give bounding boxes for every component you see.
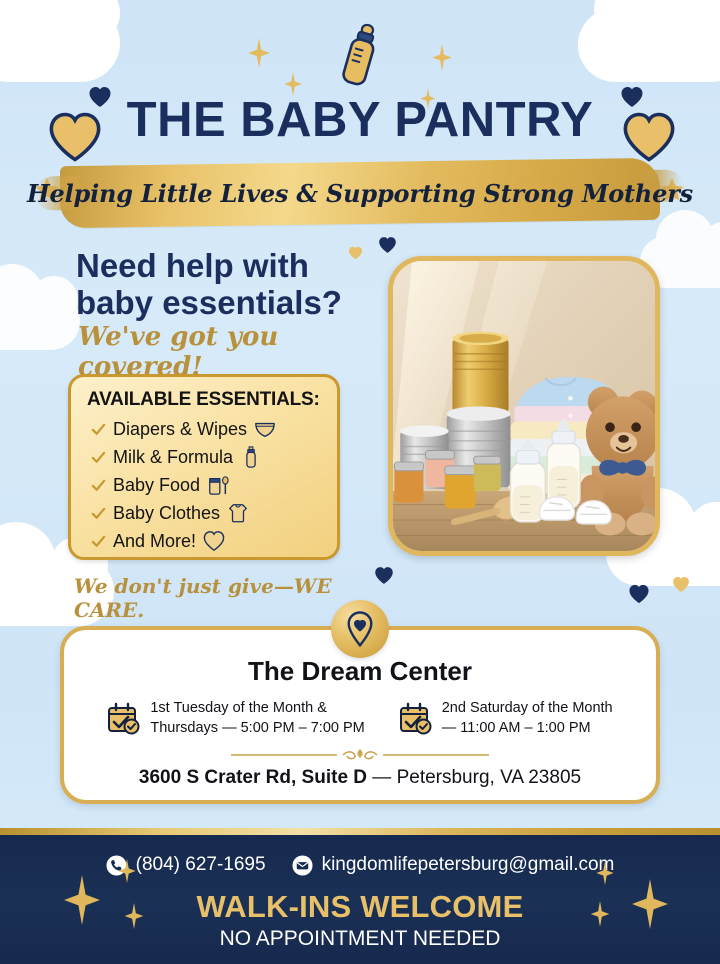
baby-supplies-photo <box>388 256 660 556</box>
baby-food-jar-icon <box>207 474 229 496</box>
check-icon <box>91 506 106 521</box>
headline-line-2: baby essentials? <box>76 285 376 322</box>
headline-line-1: Need help with <box>76 248 376 285</box>
no-appointment-text: NO APPOINTMENT NEEDED <box>0 927 720 951</box>
list-item: Baby Clothes <box>87 499 323 527</box>
ornamental-divider <box>225 747 495 763</box>
heart-icon-navy-lower-right <box>628 584 650 604</box>
footer: (804) 627-1695 kingdomlifepetersburg@gma… <box>0 835 720 964</box>
list-item: And More! <box>87 527 323 555</box>
list-item: Baby Food <box>87 471 323 499</box>
flyer-root: THE BABY PANTRY Helping Little Lives & S… <box>0 0 720 964</box>
location-pin-badge <box>331 600 389 658</box>
hours-line-2: — 11:00 AM – 1:00 PM <box>442 719 613 739</box>
walkins-headline: WALK-INS WELCOME <box>0 889 720 925</box>
hours-text: 2nd Saturday of the Month — 11:00 AM – 1… <box>442 699 613 738</box>
hours-block-weekday: 1st Tuesday of the Month & Thursdays — 5… <box>107 699 364 738</box>
essential-label: Baby Food <box>113 475 200 496</box>
sparkle-icon-top-center-left <box>248 38 270 68</box>
hours-line-1: 2nd Saturday of the Month <box>442 699 613 719</box>
list-item: Diapers & Wipes <box>87 415 323 443</box>
envelope-icon <box>292 855 313 876</box>
sparkle-icon-footer-left <box>62 875 102 925</box>
banner-tagline-text: Helping Little Lives & Supporting Strong… <box>60 162 660 224</box>
baby-bottle-icon <box>329 22 391 90</box>
sparkle-icon-top-right <box>432 44 452 71</box>
hours-block-weekend: 2nd Saturday of the Month — 11:00 AM – 1… <box>399 699 613 738</box>
check-icon <box>91 422 106 437</box>
essential-label: Baby Clothes <box>113 503 220 524</box>
sparkle-icon-footer-left-small-2 <box>124 903 144 929</box>
headline-subscript: We've got you covered! <box>78 322 388 382</box>
cloud-mid-left <box>0 292 80 350</box>
heart-icon-gold-lower-right <box>672 576 690 593</box>
phone-number: (804) 627-1695 <box>136 854 266 876</box>
essential-label: Milk & Formula <box>113 447 233 468</box>
diaper-icon <box>254 418 276 440</box>
calendar-check-icon <box>107 702 141 736</box>
check-icon <box>91 450 106 465</box>
essential-label: Diapers & Wipes <box>113 419 247 440</box>
email-address: kingdomlifepetersburg@gmail.com <box>322 854 615 876</box>
hours-row: 1st Tuesday of the Month & Thursdays — 5… <box>64 699 656 738</box>
available-essentials-box: AVAILABLE ESSENTIALS: Diapers & Wipes Mi… <box>68 374 340 560</box>
footer-gold-divider <box>0 828 720 835</box>
venue-name: The Dream Center <box>64 656 656 687</box>
hours-line-1: 1st Tuesday of the Month & <box>150 699 364 719</box>
sparkle-icon-footer-right <box>630 879 670 929</box>
onesie-icon <box>227 502 249 524</box>
bottle-icon <box>240 446 262 468</box>
sparkle-icon-footer-right-small-2 <box>590 901 610 927</box>
heart-icon-navy-mid <box>378 236 397 254</box>
email-contact[interactable]: kingdomlifepetersburg@gmail.com <box>292 854 615 876</box>
cloud-top-right <box>578 8 720 82</box>
address-city-state-zip: — Petersburg, VA 23805 <box>367 767 581 788</box>
sparkle-icon-footer-right-small <box>596 861 614 885</box>
hours-text: 1st Tuesday of the Month & Thursdays — 5… <box>150 699 364 738</box>
headline: Need help with baby essentials? <box>76 248 376 322</box>
check-icon <box>91 478 106 493</box>
address-line: 3600 S Crater Rd, Suite D — Petersburg, … <box>64 767 656 789</box>
essential-label: And More! <box>113 531 196 552</box>
check-icon <box>91 534 106 549</box>
cloud-top-left <box>0 4 120 82</box>
address-street: 3600 S Crater Rd, Suite D <box>139 767 367 788</box>
calendar-check-icon <box>399 702 433 736</box>
tagline-banner: Helping Little Lives & Supporting Strong… <box>60 162 660 224</box>
sparkle-icon-footer-left-small <box>118 859 136 883</box>
location-pin-heart-icon <box>345 611 375 647</box>
hours-line-2: Thursdays — 5:00 PM – 7:00 PM <box>150 719 364 739</box>
list-item: Milk & Formula <box>87 443 323 471</box>
page-title: THE BABY PANTRY <box>0 92 720 148</box>
essentials-title: AVAILABLE ESSENTIALS: <box>87 389 323 411</box>
heart-icon <box>203 530 225 552</box>
